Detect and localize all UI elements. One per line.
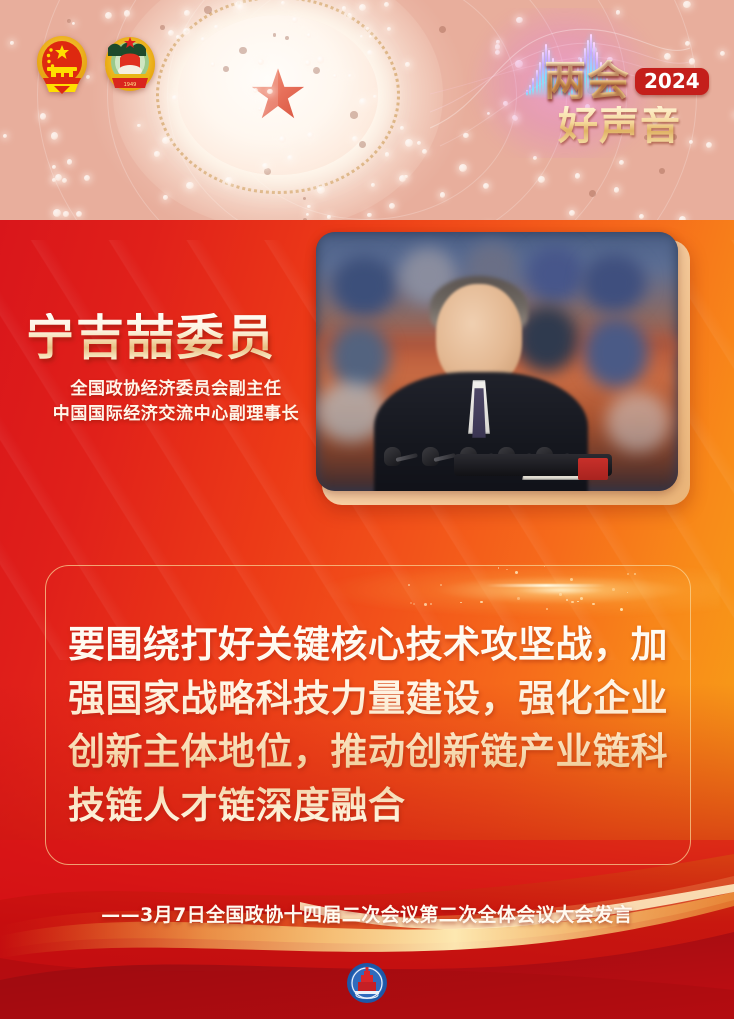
ceiling-dot <box>313 67 321 75</box>
page-title: 宁吉喆委员 <box>26 313 326 364</box>
ceiling-dot <box>237 4 245 12</box>
ceiling-dot <box>40 113 47 120</box>
ceiling-dot <box>225 177 233 185</box>
ceiling-dot <box>176 35 180 39</box>
ceiling-dot <box>303 197 306 200</box>
ceiling-dot <box>459 164 467 172</box>
header-ceiling-banner: 两会 2024 好声音 <box>0 0 734 238</box>
ceiling-dot <box>273 33 277 37</box>
ceiling-dot <box>350 111 357 118</box>
quote-text: 要围绕打好关键核心技术攻坚战，加 强国家战略科技力量建设，强化企业 创新主体地位… <box>68 618 678 833</box>
ceiling-dot <box>307 33 311 37</box>
ceiling-dot <box>63 211 69 217</box>
ceiling-dot <box>384 2 389 7</box>
ceiling-dot <box>371 183 375 187</box>
ceiling-dot <box>137 124 141 128</box>
ceiling-dot <box>333 74 337 78</box>
soundwave-bar <box>529 85 531 96</box>
ceiling-dot <box>360 35 363 38</box>
soundwave-bar <box>532 78 534 96</box>
quote-line-1: 要围绕打好关键核心技术攻坚战，加 <box>68 618 678 672</box>
ceiling-dot <box>223 66 229 72</box>
ceiling-dot <box>483 183 489 189</box>
ceiling-dot <box>359 4 366 11</box>
portrait-photo <box>316 232 678 491</box>
ceiling-dot <box>366 27 369 30</box>
ceiling-dot <box>619 160 624 165</box>
ceiling-dot <box>367 50 373 56</box>
ceiling-dot <box>359 98 367 106</box>
ceiling-dot <box>317 186 325 194</box>
ceiling-dot <box>53 209 61 217</box>
ceiling-dot <box>201 37 206 42</box>
ceiling-dot <box>659 168 665 174</box>
ceiling-dot <box>422 149 427 154</box>
ceiling-dot <box>369 35 372 38</box>
ceiling-dot <box>307 132 314 139</box>
ceiling-dot <box>405 62 410 67</box>
ceiling-dot <box>367 213 372 218</box>
ceiling-dot <box>163 195 167 199</box>
year-badge: 2024 <box>635 68 709 95</box>
ceiling-dot <box>720 51 725 56</box>
ceiling-dot <box>67 159 73 165</box>
ceiling-dot <box>72 22 75 25</box>
ceiling-dot <box>287 155 294 162</box>
ceiling-dot <box>400 126 404 130</box>
ceiling-dot <box>399 175 406 182</box>
ceiling-dot <box>292 17 298 23</box>
person-titles: 全国政协经济委员会副主任 中国国际经济交流中心副理事长 <box>26 377 326 427</box>
ceiling-dot <box>348 74 352 78</box>
ceiling-dot <box>440 192 445 197</box>
ceiling-dot <box>258 107 263 112</box>
brand-title-top: 两会 <box>544 60 630 102</box>
ceiling-dot <box>385 152 390 157</box>
ceiling-dot <box>417 141 421 145</box>
soundwave-bar <box>526 90 528 96</box>
svg-text:1949: 1949 <box>124 82 137 88</box>
ceiling-dot <box>154 151 160 157</box>
ceiling-dot <box>183 28 190 35</box>
ceiling-dot <box>162 137 170 145</box>
ceiling-dot <box>279 136 287 144</box>
ceiling-dot <box>305 60 311 66</box>
ceiling-dot <box>614 187 619 192</box>
ceiling-dot <box>342 6 346 10</box>
ceiling-dot <box>10 41 13 44</box>
ceiling-dot <box>538 176 545 183</box>
ceiling-dot <box>405 139 413 147</box>
ceiling-dot <box>211 62 215 66</box>
person-info: 宁吉喆委员 全国政协经济委员会副主任 中国国际经济交流中心副理事长 <box>26 313 326 427</box>
ceiling-dot <box>168 30 174 36</box>
soundwave-bar <box>539 62 541 96</box>
ceiling-dot <box>359 141 366 148</box>
cppcc-emblem-icon: 1949 <box>102 34 158 96</box>
ceiling-dot <box>639 214 644 219</box>
ceiling-dot <box>105 12 112 19</box>
brand-title-bottom: 好声音 <box>558 106 681 146</box>
ceiling-dot <box>575 173 581 179</box>
ceiling-dot <box>51 132 58 139</box>
ceiling-dot <box>52 165 56 169</box>
ceiling-dot <box>306 213 309 216</box>
ceiling-dot <box>239 47 246 54</box>
ceiling-dot <box>253 88 258 93</box>
ceiling-dot <box>62 178 68 184</box>
national-emblem-of-china-icon <box>34 34 90 96</box>
ceiling-dot <box>172 95 177 100</box>
ceiling-dot <box>281 1 285 5</box>
cppcc-daily-logo-icon <box>346 962 388 1004</box>
ceiling-dot <box>76 211 82 217</box>
ceiling-dot <box>373 95 377 99</box>
ceiling-dot <box>589 190 596 197</box>
ceiling-dot <box>267 89 272 94</box>
ceiling-dot <box>214 25 219 30</box>
quote-line-4: 技链人才链深度融合 <box>68 779 678 833</box>
ceiling-dot <box>387 27 391 31</box>
ceiling-dot <box>160 25 165 30</box>
quote-line-2: 强国家战略科技力量建设，强化企业 <box>68 672 678 726</box>
ceiling-dot <box>184 10 190 16</box>
quote-line-3: 创新主体地位，推动创新链产业链科 <box>68 725 678 779</box>
brand-lockup: 两会 2024 好声音 <box>544 60 716 156</box>
ceiling-dot <box>204 6 212 14</box>
ceiling-dot <box>389 203 395 209</box>
source-caption: ——3月7日全国政协十四届二次会议第二次全体会议大会发言 <box>0 900 734 927</box>
poster-root: 两会 2024 好声音 <box>0 0 734 1019</box>
ceiling-dot <box>327 215 330 218</box>
ceiling-dot <box>352 136 358 142</box>
person-title-2: 中国国际经济交流中心副理事长 <box>26 402 326 427</box>
ceiling-dot <box>3 134 7 138</box>
ceiling-dot <box>347 13 352 18</box>
emblem-group: 1949 <box>34 34 158 96</box>
ceiling-dot <box>307 205 311 209</box>
ceiling-dot <box>569 210 575 216</box>
ceiling-dot <box>258 59 263 64</box>
ceiling-dot <box>186 182 194 190</box>
ceiling-dot <box>317 56 324 63</box>
ceiling-dot <box>84 175 90 181</box>
soundwave-bar <box>536 70 538 96</box>
ceiling-dot <box>67 19 71 23</box>
ceiling-dot <box>124 10 130 16</box>
ceiling-dot <box>285 36 289 40</box>
person-title-1: 全国政协经济委员会副主任 <box>26 377 326 402</box>
microphones <box>374 408 594 480</box>
